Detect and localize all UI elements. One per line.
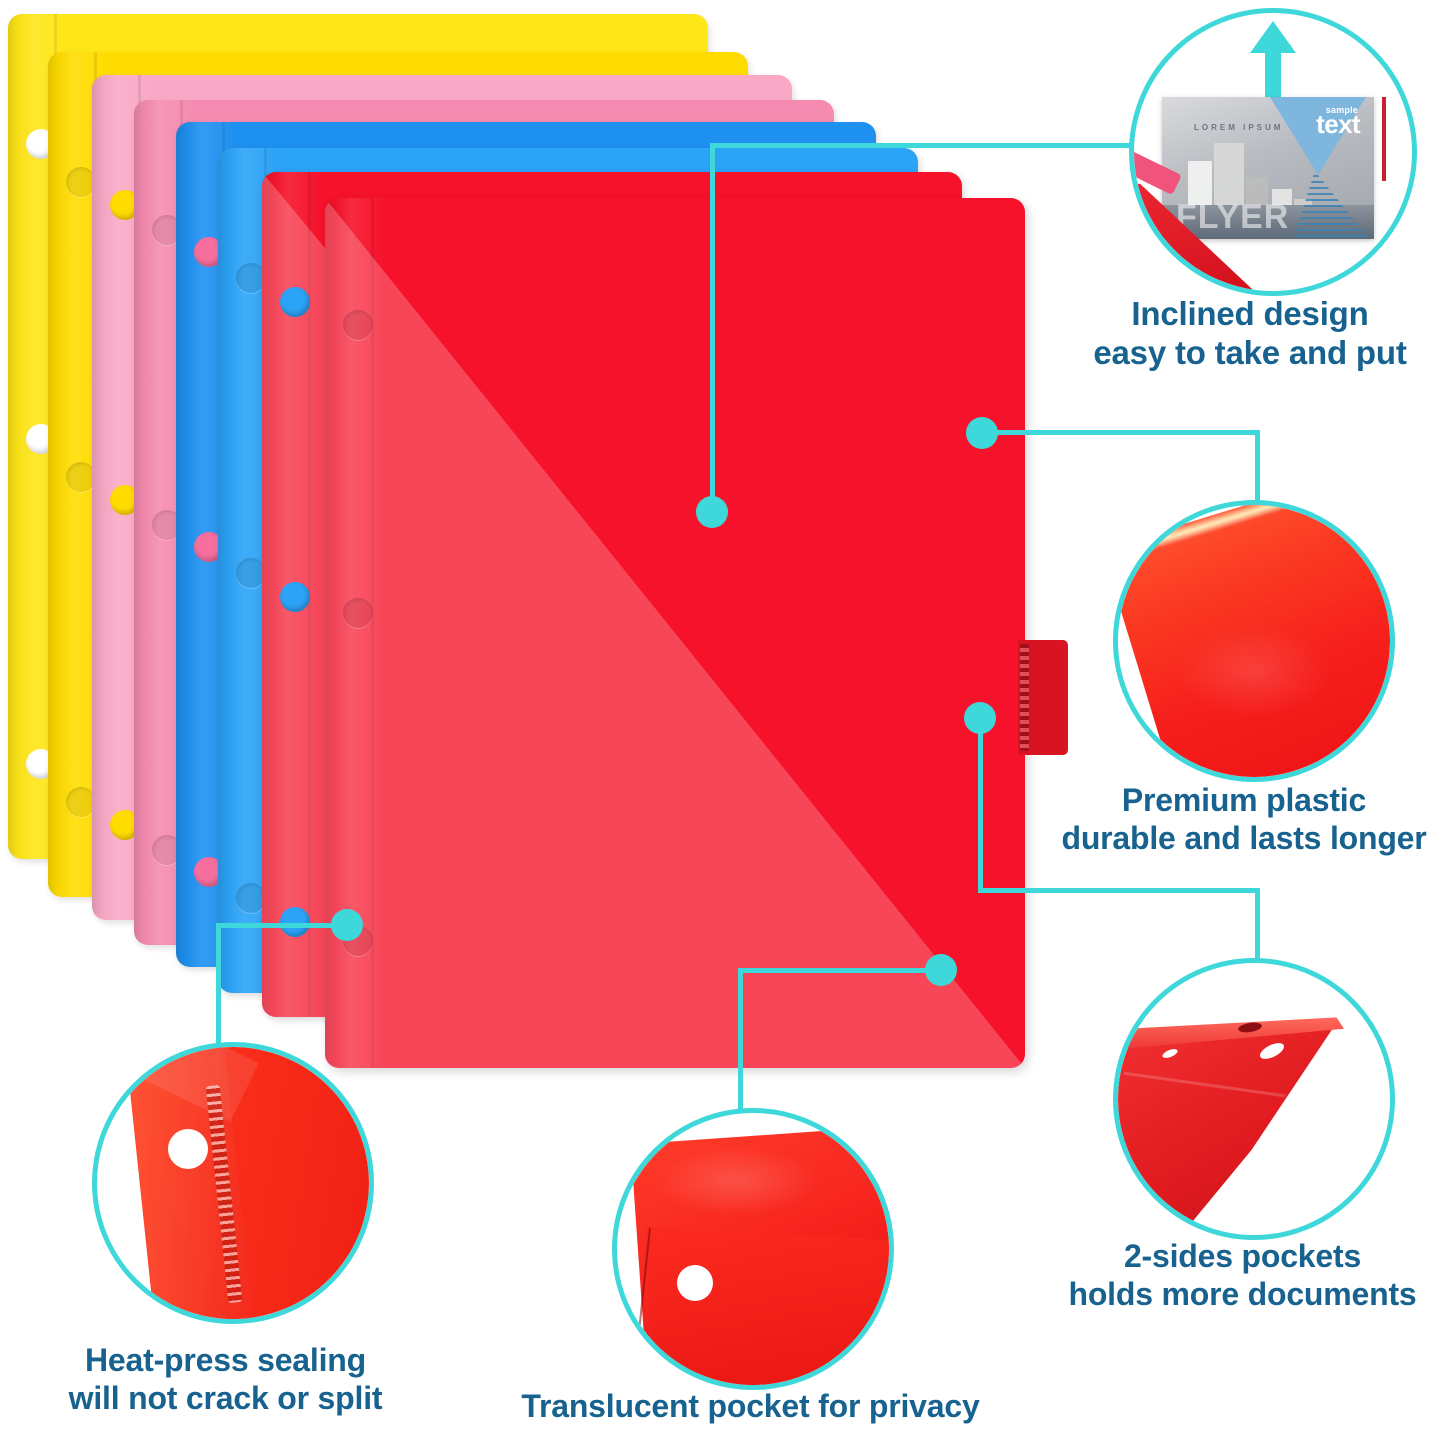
translucent-pocket-overlay xyxy=(325,198,1025,1068)
punch-hole xyxy=(280,582,310,612)
connector-horizontal xyxy=(710,143,1150,148)
connector-dot-inclined-design xyxy=(696,496,728,528)
punch-hole xyxy=(343,310,373,340)
connector-vertical xyxy=(738,968,743,1113)
connector-horizontal xyxy=(218,923,348,928)
caption-line: Inclined design xyxy=(1055,295,1445,334)
flyer-headline-word: FLYER xyxy=(1176,202,1289,233)
callout-heat-press-sealing xyxy=(92,1042,374,1324)
connector-horizontal xyxy=(982,430,1260,435)
punch-hole xyxy=(343,598,373,628)
heat-sealed-edge-tab xyxy=(1018,640,1068,755)
connector-dot-heat-press-sealing xyxy=(331,909,363,941)
callout-translucent-pocket xyxy=(612,1108,894,1390)
connector-dot-two-sides-pockets xyxy=(964,702,996,734)
caption-line: Translucent pocket for privacy xyxy=(458,1388,1043,1426)
connector-horizontal xyxy=(740,968,940,973)
callout-premium-plastic xyxy=(1113,500,1395,782)
connector-dot-premium-plastic xyxy=(966,417,998,449)
caption-line: 2-sides pockets xyxy=(1040,1238,1445,1276)
connector-horizontal xyxy=(978,888,1260,893)
flyer-headline-sub: headline xyxy=(1324,239,1393,259)
caption-line: durable and lasts longer xyxy=(1045,820,1443,858)
punch-hole xyxy=(677,1265,713,1301)
up-arrow-icon xyxy=(1246,19,1300,97)
punch-hole xyxy=(168,1129,208,1169)
flyer-big-text: text xyxy=(1316,111,1360,137)
caption-translucent-pocket: Translucent pocket for privacy xyxy=(458,1388,1043,1426)
flyer-artwork: LOREM IPSUM sample text FLYER xyxy=(1162,97,1374,239)
translucent-front-pocket xyxy=(639,1227,889,1385)
caption-line: easy to take and put xyxy=(1055,334,1445,373)
callout-inclined-design: LOREM IPSUM sample text FLYER headline xyxy=(1129,8,1417,296)
caption-line: will not crack or split xyxy=(18,1380,433,1418)
caption-line: Heat-press sealing xyxy=(18,1342,433,1380)
folder-red-front xyxy=(325,198,1025,1068)
caption-line: Premium plastic xyxy=(1045,782,1443,820)
caption-two-sides-pockets: 2-sides pockets holds more documents xyxy=(1040,1238,1445,1314)
caption-line: holds more documents xyxy=(1040,1276,1445,1314)
infographic-canvas: LOREM IPSUM sample text FLYER headline I… xyxy=(0,0,1445,1438)
connector-dot-translucent-pocket xyxy=(925,954,957,986)
caption-inclined-design: Inclined design easy to take and put xyxy=(1055,295,1445,373)
caption-premium-plastic: Premium plastic durable and lasts longer xyxy=(1045,782,1443,858)
callout-two-sides-pockets xyxy=(1113,958,1395,1240)
punch-hole xyxy=(280,907,310,937)
punch-hole xyxy=(280,287,310,317)
connector-vertical xyxy=(978,718,983,893)
caption-heat-press-sealing: Heat-press sealing will not crack or spl… xyxy=(18,1342,433,1418)
pocket-flap-shape xyxy=(1118,1023,1346,1235)
flyer-lorem-text: LOREM IPSUM xyxy=(1194,123,1283,132)
connector-vertical xyxy=(710,143,715,513)
